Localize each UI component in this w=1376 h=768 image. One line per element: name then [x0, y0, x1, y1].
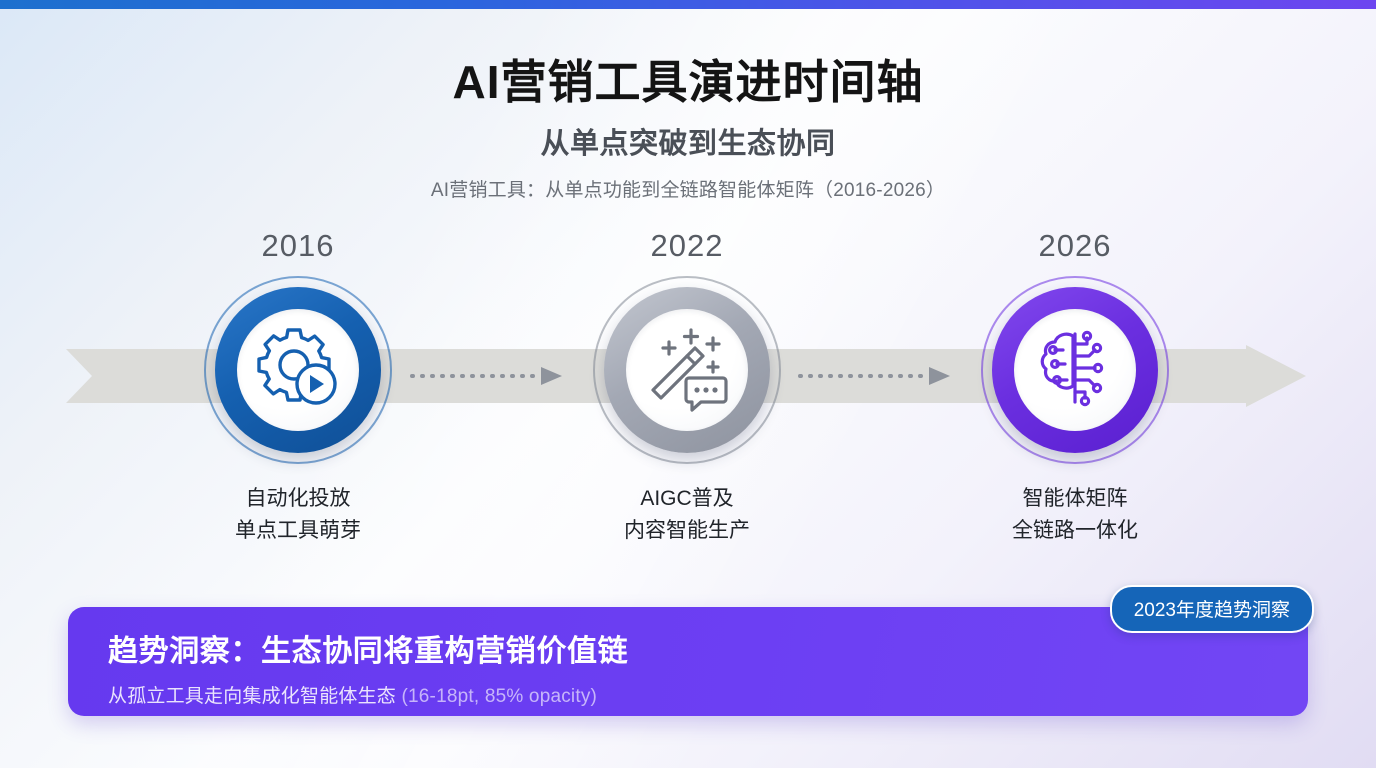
timeline: 2016 自动化投放 单点工具萌芽	[0, 226, 1376, 566]
node-label: 智能体矩阵 全链路一体化	[925, 483, 1225, 547]
node-icon-holder	[626, 309, 748, 431]
timeline-node-2026[interactable]: 2026	[925, 226, 1225, 547]
page-subtitle: 从单点突破到生态协同	[0, 120, 1376, 162]
node-ring	[204, 276, 392, 464]
node-icon-holder	[237, 309, 359, 431]
timeline-node-2022[interactable]: 2022	[537, 226, 837, 547]
page-title: AI营销工具演进时间轴	[0, 56, 1376, 109]
node-label-line1: 智能体矩阵	[925, 483, 1225, 515]
node-year-label: 2022	[537, 226, 837, 266]
magic-wand-chat-icon	[639, 320, 735, 421]
insight-subtitle-note: (16-18pt, 85% opacity)	[402, 686, 598, 707]
slide-canvas: AI营销工具演进时间轴 从单点突破到生态协同 AI营销工具：从单点功能到全链路智…	[0, 0, 1376, 768]
slide-header: AI营销工具演进时间轴 从单点突破到生态协同 AI营销工具：从单点功能到全链路智…	[0, 56, 1376, 202]
node-icon-holder	[1014, 309, 1136, 431]
node-label-line2: 全链路一体化	[925, 515, 1225, 547]
node-ring	[593, 276, 781, 464]
page-description: AI营销工具：从单点功能到全链路智能体矩阵（2016-2026）	[0, 175, 1376, 202]
node-label: 自动化投放 单点工具萌芽	[148, 483, 448, 547]
node-label-line2: 内容智能生产	[537, 515, 837, 547]
status-badge[interactable]: 2023年度趋势洞察	[1110, 585, 1314, 633]
node-year-label: 2026	[925, 226, 1225, 266]
node-label: AIGC普及 内容智能生产	[537, 483, 837, 547]
insight-subtitle: 从孤立工具走向集成化智能体生态 (16-18pt, 85% opacity)	[108, 681, 1308, 708]
node-year-label: 2016	[148, 226, 448, 266]
gear-play-icon	[250, 320, 346, 421]
node-label-line1: AIGC普及	[537, 483, 837, 515]
node-label-line1: 自动化投放	[148, 483, 448, 515]
top-accent-bar	[0, 0, 1376, 9]
node-label-line2: 单点工具萌芽	[148, 515, 448, 547]
timeline-node-2016[interactable]: 2016 自动化投放 单点工具萌芽	[148, 226, 448, 547]
node-ring	[981, 276, 1169, 464]
ai-brain-circuit-icon	[1029, 322, 1121, 419]
insight-subtitle-main: 从孤立工具走向集成化智能体生态	[108, 686, 396, 707]
